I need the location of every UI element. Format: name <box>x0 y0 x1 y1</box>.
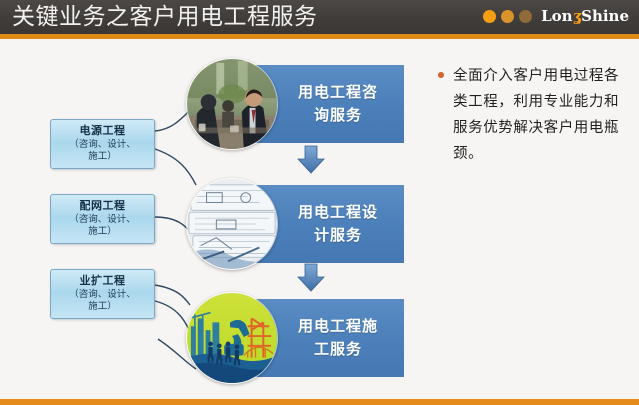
construction-site-illustration-icon <box>187 293 277 383</box>
stage-banner-construction[interactable]: 用电工程施工服务 <box>256 299 404 377</box>
stage-image-blueprints <box>186 178 278 270</box>
left-box-subtitle: （咨询、设计、施工） <box>53 214 152 238</box>
note-text: 全面介入客户用电过程各类工程，利用专业能力和服务优势解决客户用电瓶颈。 <box>453 63 621 167</box>
flow-arrow-1 <box>296 145 326 175</box>
dot-brown-icon <box>519 10 532 23</box>
stage-image-business-meeting <box>186 58 278 150</box>
stage-banner-label: 用电工程设计服务 <box>286 201 390 247</box>
left-box-title: 配网工程 <box>53 199 152 213</box>
slide-header: 关键业务之客户用电工程服务 LonʓShine <box>0 0 639 34</box>
stage-banner-design[interactable]: 用电工程设计服务 <box>256 185 404 263</box>
business-meeting-photo-icon <box>187 59 277 149</box>
left-box-subtitle: （咨询、设计、施工） <box>53 139 152 163</box>
left-box-distribution-network[interactable]: 配网工程 （咨询、设计、施工） <box>50 194 155 244</box>
logo-mark-icon: ʓ <box>573 7 582 25</box>
stage-banner-label: 用电工程咨询服务 <box>286 81 390 127</box>
left-box-subtitle: （咨询、设计、施工） <box>53 289 152 313</box>
stage-banner-label: 用电工程施工服务 <box>286 315 390 361</box>
flow-arrow-2 <box>296 263 326 293</box>
stage-banner-consulting[interactable]: 用电工程咨询服务 <box>256 65 404 143</box>
page-title: 关键业务之客户用电工程服务 <box>12 1 318 34</box>
logo-wordmark: LonʓShine <box>541 7 629 25</box>
down-arrow-icon <box>296 145 326 175</box>
logo-dots <box>483 10 532 23</box>
footer-divider <box>0 399 639 405</box>
brand-logo: LonʓShine <box>483 7 629 25</box>
bullet-dot-icon <box>438 72 444 78</box>
note-block: 全面介入客户用电过程各类工程，利用专业能力和服务优势解决客户用电瓶颈。 <box>438 63 628 167</box>
left-box-title: 电源工程 <box>53 124 152 138</box>
slide-body: 电源工程 （咨询、设计、施工） 配网工程 （咨询、设计、施工） 业扩工程 （咨询… <box>0 39 639 399</box>
dot-orange-icon <box>483 10 496 23</box>
logo-suffix: Shine <box>581 7 629 25</box>
logo-prefix: Lon <box>541 7 572 25</box>
left-box-power-engineering[interactable]: 电源工程 （咨询、设计、施工） <box>50 119 155 169</box>
slide: 关键业务之客户用电工程服务 LonʓShine 电源工程 （咨询、设计、施工） <box>0 0 639 405</box>
down-arrow-icon <box>296 263 326 293</box>
blueprint-drawings-photo-icon <box>187 179 277 269</box>
stage-image-construction-site <box>186 292 278 384</box>
dot-amber-icon <box>501 10 514 23</box>
left-box-business-expansion[interactable]: 业扩工程 （咨询、设计、施工） <box>50 269 155 319</box>
left-box-title: 业扩工程 <box>53 274 152 288</box>
